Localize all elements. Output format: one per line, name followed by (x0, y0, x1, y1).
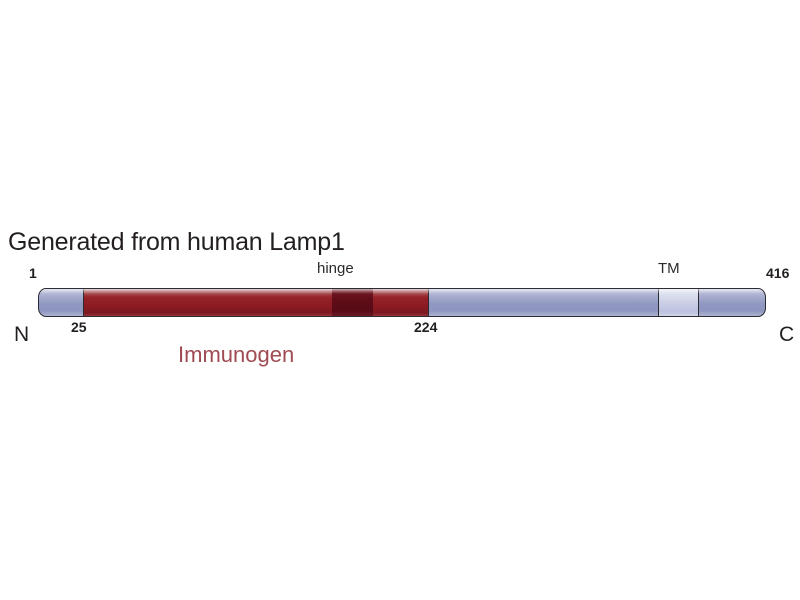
position-label-immunogen-start: 25 (71, 320, 87, 334)
region-hinge (332, 289, 373, 316)
protein-domain-figure: Generated from human Lamp1 1 25 224 416 … (0, 0, 800, 600)
region-transmembrane (658, 289, 699, 316)
position-label-immunogen-end: 224 (414, 320, 437, 334)
n-terminus-label: N (14, 324, 29, 345)
position-label-start: 1 (29, 266, 37, 280)
immunogen-label: Immunogen (178, 344, 294, 366)
c-terminus-label: C (779, 324, 794, 345)
protein-backbone-bar (38, 288, 766, 317)
position-label-end: 416 (766, 266, 789, 280)
hinge-label: hinge (317, 261, 354, 276)
domain-diagram: 1 25 224 416 N C hinge TM Immunogen (0, 258, 800, 378)
page-title: Generated from human Lamp1 (8, 228, 345, 256)
region-immunogen (83, 289, 429, 316)
transmembrane-label: TM (658, 261, 680, 276)
